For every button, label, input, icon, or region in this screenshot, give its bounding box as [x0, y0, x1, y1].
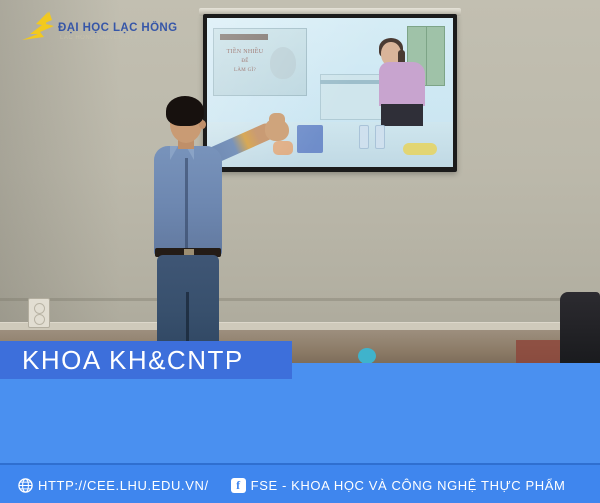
slide-portrait	[270, 47, 296, 79]
presenter-shirt-placket	[185, 158, 188, 254]
logo-name: ĐẠI HỌC LẠC HỒNG	[58, 22, 177, 34]
footer-website-group[interactable]: HTTP://CEE.LHU.EDU.VN/	[0, 478, 209, 493]
video-bottle-right	[375, 125, 385, 149]
university-logo: ĐẠI HỌC LẠC HỒNG LAC HONG UNIVERSITY	[18, 10, 178, 46]
video-cabinet-edge	[320, 80, 382, 84]
department-badge: KHOA KH&CNTP	[0, 341, 292, 379]
video-inner-slide: TIỀN NHIỀU ĐỂ LÀM GÌ?	[213, 28, 307, 96]
presenter-hand	[265, 119, 289, 141]
slide-title-line3: LÀM GÌ?	[219, 68, 271, 73]
logo-subtitle: LAC HONG UNIVERSITY	[60, 35, 139, 41]
dark-foreground-object	[560, 292, 600, 366]
globe-icon	[18, 478, 33, 493]
slide-title-line1: TIỀN NHIỀU	[219, 49, 271, 55]
footer-facebook-text: FSE - KHOA HỌC VÀ CÔNG NGHỆ THỰC PHẨM	[246, 478, 566, 493]
video-yellow-item	[403, 143, 437, 155]
video-bottle-left	[359, 125, 369, 149]
footer-bar: HTTP://CEE.LHU.EDU.VN/ f FSE - KHOA HỌC …	[0, 463, 600, 503]
presenter-shirt	[154, 146, 222, 256]
video-orange-item	[273, 141, 293, 155]
presenter	[140, 96, 260, 366]
footer-website-text: HTTP://CEE.LHU.EDU.VN/	[33, 478, 209, 493]
presenter-hair	[166, 96, 204, 126]
poster: TIỀN NHIỀU ĐỂ LÀM GÌ?	[0, 0, 600, 503]
video-blue-container	[297, 125, 323, 153]
presenter-collar-left	[170, 146, 178, 160]
wall-outlet	[28, 298, 50, 328]
slide-title-line2: ĐỂ	[219, 59, 271, 64]
department-badge-label: KHOA KH&CNTP	[0, 345, 244, 376]
wall-shadow	[0, 0, 120, 366]
teal-object	[358, 348, 376, 364]
footer-facebook-group[interactable]: f FSE - KHOA HỌC VÀ CÔNG NGHỆ THỰC PHẨM	[209, 478, 566, 493]
video-person-skirt	[381, 104, 423, 126]
facebook-icon: f	[231, 478, 246, 493]
slide-header-bar	[220, 34, 268, 40]
wall-seam	[0, 298, 600, 301]
video-person-blouse	[379, 62, 425, 106]
event-photo: TIỀN NHIỀU ĐỂ LÀM GÌ?	[0, 0, 600, 366]
